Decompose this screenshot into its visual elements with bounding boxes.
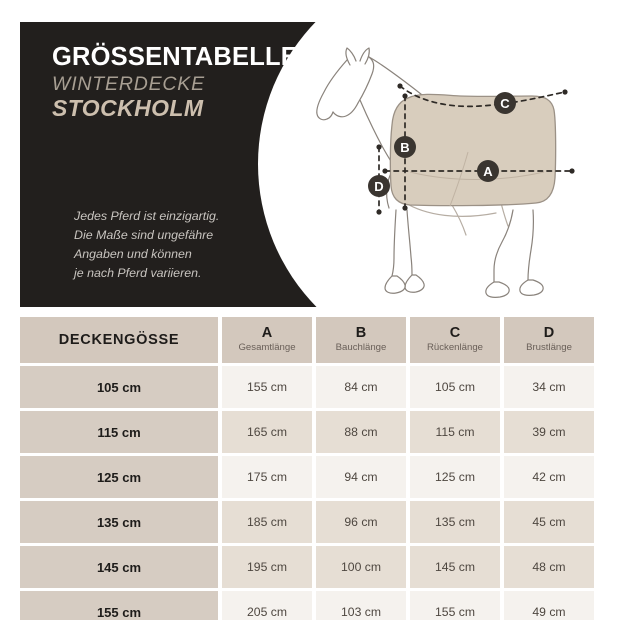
marker-a-gesamtlaenge: A [477,160,499,182]
row-cell-b: 88 cm [316,411,406,453]
row-size-cell: 155 cm [20,591,218,620]
header-cell-a: A Gesamtlänge [222,317,312,363]
row-size-value: 155 cm [97,605,141,620]
table-row: 125 cm 175 cm 94 cm 125 cm 42 cm [20,456,600,498]
hero-note-line-4: je nach Pferd variieren. [74,264,289,283]
row-cell-a: 155 cm [222,366,312,408]
row-cell-c: 125 cm [410,456,500,498]
hero-note: Jedes Pferd ist einzigartig. Die Maße si… [74,207,289,282]
row-cell-d: 34 cm [504,366,594,408]
row-size-cell: 135 cm [20,501,218,543]
svg-text:D: D [374,179,383,194]
hero-title-block: GRÖSSENTABELLE WINTERDECKE STOCKHOLM [52,44,317,121]
svg-text:C: C [500,96,510,111]
table-row: 135 cm 185 cm 96 cm 135 cm 45 cm [20,501,600,543]
row-cell-b: 84 cm [316,366,406,408]
header-sublabel-c: Rückenlänge [427,342,483,354]
header-cell-size: DECKENGÖSSE [20,317,218,363]
row-size-value: 125 cm [97,470,141,485]
size-chart-page: GRÖSSENTABELLE WINTERDECKE STOCKHOLM Jed… [0,0,620,620]
row-cell-d: 45 cm [504,501,594,543]
row-cell-d: 42 cm [504,456,594,498]
row-cell-b: 96 cm [316,501,406,543]
row-size-cell: 105 cm [20,366,218,408]
header-sublabel-d: Brustlänge [526,342,572,354]
row-cell-c: 135 cm [410,501,500,543]
header-letter-d: D [544,326,554,342]
header-letter-c: C [450,326,460,342]
table-row: 105 cm 155 cm 84 cm 105 cm 34 cm [20,366,600,408]
row-cell-a: 185 cm [222,501,312,543]
row-size-value: 135 cm [97,515,141,530]
row-cell-d: 49 cm [504,591,594,620]
page-subtitle-product: WINTERDECKE [52,74,317,96]
header-cell-d: D Brustlänge [504,317,594,363]
row-cell-c: 145 cm [410,546,500,588]
row-cell-b: 94 cm [316,456,406,498]
page-title: GRÖSSENTABELLE [52,44,317,71]
header-cell-b: B Bauchlänge [316,317,406,363]
row-cell-b: 103 cm [316,591,406,620]
svg-text:B: B [400,140,409,155]
header-sublabel-a: Gesamtlänge [238,342,295,354]
svg-text:A: A [483,164,493,179]
marker-c-rueckenlaenge: C [494,92,516,114]
row-cell-c: 105 cm [410,366,500,408]
size-table: DECKENGÖSSE A Gesamtlänge B Bauchlänge C… [20,317,600,620]
row-cell-b: 100 cm [316,546,406,588]
hero-note-line-1: Jedes Pferd ist einzigartig. [74,207,289,226]
header-size-label: DECKENGÖSSE [59,332,180,348]
marker-d-brustlaenge: D [368,175,390,197]
row-size-value: 115 cm [97,425,140,440]
table-row: 145 cm 195 cm 100 cm 145 cm 48 cm [20,546,600,588]
row-cell-c: 115 cm [410,411,500,453]
page-subtitle-model: STOCKHOLM [52,96,317,121]
row-cell-a: 175 cm [222,456,312,498]
row-size-value: 145 cm [97,560,141,575]
hero-note-line-3: Angaben und können [74,245,289,264]
marker-b-bauchlaenge: B [394,136,416,158]
table-row: 155 cm 205 cm 103 cm 155 cm 49 cm [20,591,600,620]
horse-diagram: A B C D [300,30,600,310]
header-letter-a: A [262,326,272,342]
header-letter-b: B [356,326,366,342]
row-cell-a: 165 cm [222,411,312,453]
row-cell-a: 195 cm [222,546,312,588]
header-cell-c: C Rückenlänge [410,317,500,363]
row-cell-d: 48 cm [504,546,594,588]
row-size-cell: 125 cm [20,456,218,498]
hero-note-line-2: Die Maße sind ungefähre [74,226,289,245]
row-size-cell: 115 cm [20,411,218,453]
header-sublabel-b: Bauchlänge [336,342,387,354]
row-cell-a: 205 cm [222,591,312,620]
row-size-value: 105 cm [97,380,141,395]
row-size-cell: 145 cm [20,546,218,588]
table-row: 115 cm 165 cm 88 cm 115 cm 39 cm [20,411,600,453]
row-cell-c: 155 cm [410,591,500,620]
table-header-row: DECKENGÖSSE A Gesamtlänge B Bauchlänge C… [20,317,600,363]
row-cell-d: 39 cm [504,411,594,453]
